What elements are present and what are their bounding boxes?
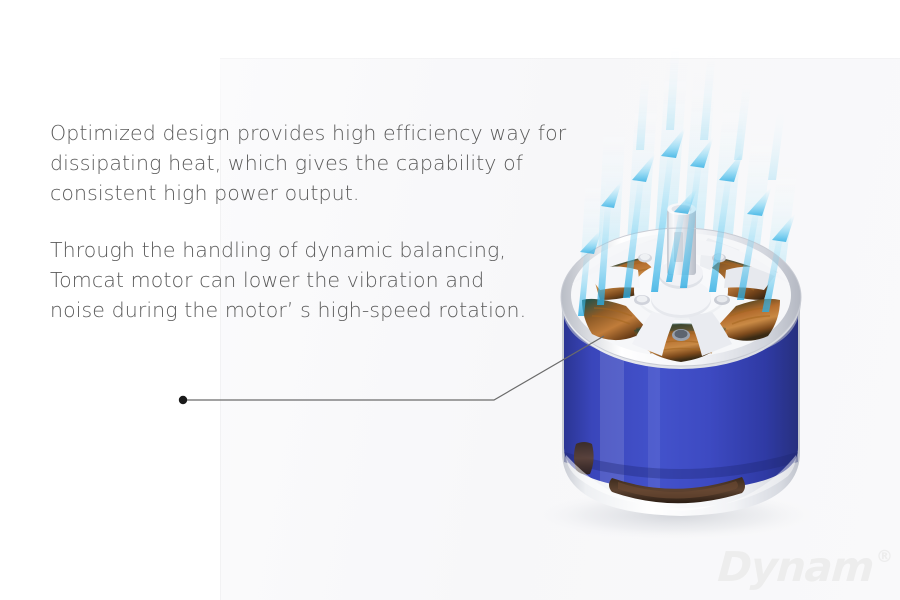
paragraph-2-line-1: Through the handling of dynamic balancin… <box>50 238 506 262</box>
brand-wordmark: Dynam <box>716 543 875 591</box>
brand-watermark: Dynam ® <box>718 543 893 591</box>
paragraph-1-line-1: Optimized design provides high efficienc… <box>50 121 566 145</box>
paragraph-efficiency: Optimized design provides high efficienc… <box>50 118 570 208</box>
slide-canvas: Optimized design provides high efficienc… <box>0 0 900 600</box>
paragraph-1-line-2: dissipating heat, which gives the capabi… <box>50 151 523 175</box>
paragraph-balancing: Through the handling of dynamic balancin… <box>50 235 570 325</box>
feature-description: Optimized design provides high efficienc… <box>50 118 570 325</box>
registered-trademark-icon: ® <box>876 547 893 567</box>
paragraph-2-line-3: noise during the motor’ s high-speed rot… <box>50 298 526 322</box>
paragraph-1-line-3: consistent high power output. <box>50 181 359 205</box>
paragraph-2-line-2: Tomcat motor can lower the vibration and <box>50 268 484 292</box>
